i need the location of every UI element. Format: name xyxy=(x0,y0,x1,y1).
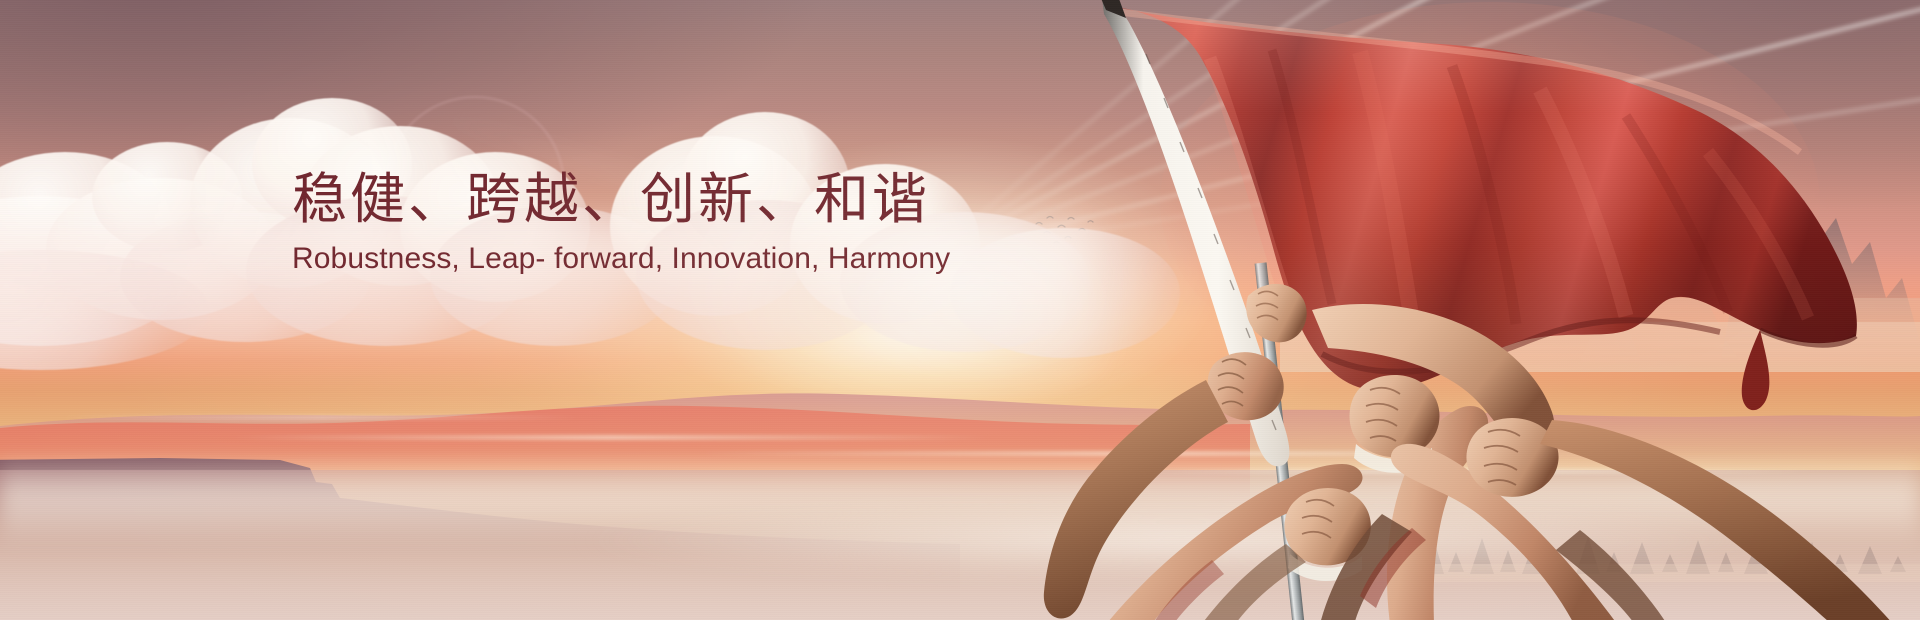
slogan-english: Robustness, Leap- forward, Innovation, H… xyxy=(292,244,972,274)
horizon-streak xyxy=(60,416,580,419)
horizon-streak xyxy=(230,436,990,439)
arm xyxy=(1540,420,1900,620)
slogan-chinese: 稳健、跨越、创新、和谐 xyxy=(292,172,972,227)
hero-banner: 稳健、跨越、创新、和谐 Robustness, Leap- forward, I… xyxy=(0,0,1920,620)
hand xyxy=(1466,418,1558,497)
flag-and-arms xyxy=(1060,0,1920,620)
slogan-block: 稳健、跨越、创新、和谐 Robustness, Leap- forward, I… xyxy=(292,172,972,274)
fist xyxy=(1350,375,1440,457)
